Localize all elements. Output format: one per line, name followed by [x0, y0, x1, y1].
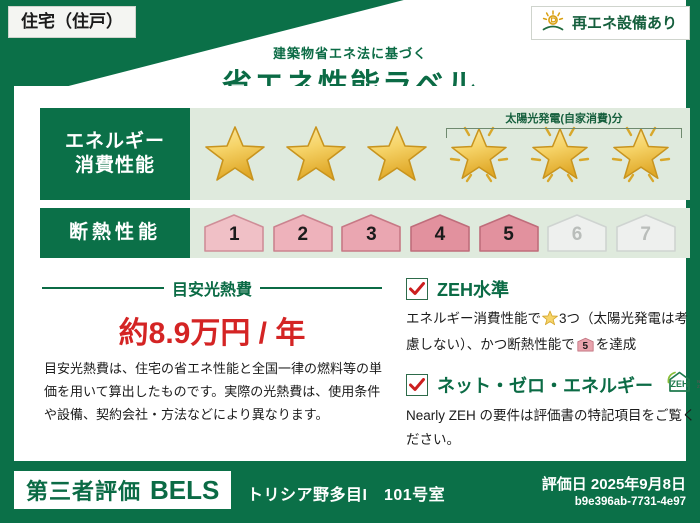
net-zero-body: Nearly ZEH の要件は評価書の特記項目をご覧ください。: [406, 404, 696, 450]
check-icon: [406, 278, 428, 300]
bels-certification-chip: 第三者評価 BELS: [14, 471, 231, 509]
house-icon-inline: 5: [577, 336, 594, 353]
solar-bracket-label: 太陽光発電(自家消費)分: [438, 110, 690, 126]
renewable-equipment-badge: 再エネ設備あり: [531, 6, 690, 40]
utility-cost-heading-text: 目安光熱費: [172, 276, 252, 300]
evaluation-id: b9e396ab-7731-4e97: [542, 496, 686, 508]
bels-logo-text: BELS: [150, 475, 219, 506]
zeh-body-part3: を達成: [596, 337, 637, 352]
solar-generation-bracket: 太陽光発電(自家消費)分: [438, 112, 690, 138]
property-unit-name: トリシア野多目I 101号室: [247, 481, 445, 505]
utility-cost-value: 約8.9万円 / 年: [42, 308, 382, 352]
third-party-label: 第三者評価: [26, 474, 141, 506]
utility-cost-heading: 目安光熱費: [42, 276, 382, 300]
star-icon: [280, 119, 352, 189]
insulation-performance-label: 断熱性能: [40, 208, 190, 258]
label-card: エネルギー 消費性能: [14, 86, 686, 461]
net-zero-header: ネット・ゼロ・エネルギー ZEH Nearly ZEH: [406, 370, 696, 399]
label-lower-section: 目安光熱費 約8.9万円 / 年 目安光熱費は、住宅の省エネ性能と全国一律の燃料…: [28, 276, 700, 451]
utility-cost-block: 目安光熱費 約8.9万円 / 年: [42, 276, 382, 352]
zeh-nearly-logo-icon: ZEH Nearly ZEH: [666, 370, 700, 399]
dwelling-type-tag: 住宅（住戸）: [8, 6, 136, 38]
zeh-standard-header: ZEH水準: [406, 276, 696, 302]
evaluation-date: 評価日 2025年9月8日: [542, 473, 686, 494]
energy-performance-label: エネルギー 消費性能: [40, 108, 190, 200]
net-zero-energy-check: ネット・ゼロ・エネルギー ZEH Nearly ZEH Nearly ZEH の…: [406, 370, 696, 450]
evaluation-info: 評価日 2025年9月8日 b9e396ab-7731-4e97: [542, 473, 686, 508]
insulation-performance-band: 断熱性能 1 2 3: [40, 208, 690, 258]
house-icon-value: 5: [577, 342, 594, 352]
footer-bar: 第三者評価 BELS トリシア野多目I 101号室 評価日 2025年9月8日 …: [0, 465, 700, 523]
star-icon-inline: [542, 310, 558, 333]
insulation-step-6: 6: [546, 213, 608, 253]
renewable-badge-label: 再エネ設備あり: [572, 16, 677, 31]
bels-energy-performance-label: 住宅（住戸） 再エネ設備あり 建築物省エネ法に基づく 省エネ性能ラベル: [0, 0, 700, 523]
zeh-standard-body: エネルギー消費性能で3つ（太陽光発電は考慮しない）、かつ断熱性能で5を達成: [406, 307, 696, 356]
insulation-step-2: 2: [272, 213, 334, 253]
insulation-step-5: 5: [478, 213, 540, 253]
star-icon: [199, 119, 271, 189]
sun-icon: [541, 10, 565, 37]
star-icon: [361, 119, 433, 189]
net-zero-title: ネット・ゼロ・エネルギー: [437, 372, 653, 398]
check-icon: [406, 374, 428, 396]
zeh-standard-check: ZEH水準 エネルギー消費性能で3つ（太陽光発電は考慮しない）、かつ断熱性能で5…: [406, 276, 696, 356]
heading-rule-left: [42, 287, 164, 289]
heading-rule-right: [260, 287, 382, 289]
insulation-step-1: 1: [203, 213, 265, 253]
solar-bracket-line: [446, 128, 682, 138]
insulation-rating-steps: 1 2 3 4: [190, 208, 690, 258]
zeh-standard-title: ZEH水準: [437, 276, 509, 302]
zeh-body-part1: エネルギー消費性能で: [406, 311, 541, 326]
svg-text:ZEH: ZEH: [671, 379, 689, 389]
insulation-step-4: 4: [409, 213, 471, 253]
insulation-step-3: 3: [340, 213, 402, 253]
compliance-checks: ZEH水準 エネルギー消費性能で3つ（太陽光発電は考慮しない）、かつ断熱性能で5…: [406, 276, 696, 451]
utility-cost-note: 目安光熱費は、住宅の省エネ性能と全国一律の燃料等の単価を用いて算出したものです。…: [44, 358, 384, 426]
insulation-step-7: 7: [615, 213, 677, 253]
